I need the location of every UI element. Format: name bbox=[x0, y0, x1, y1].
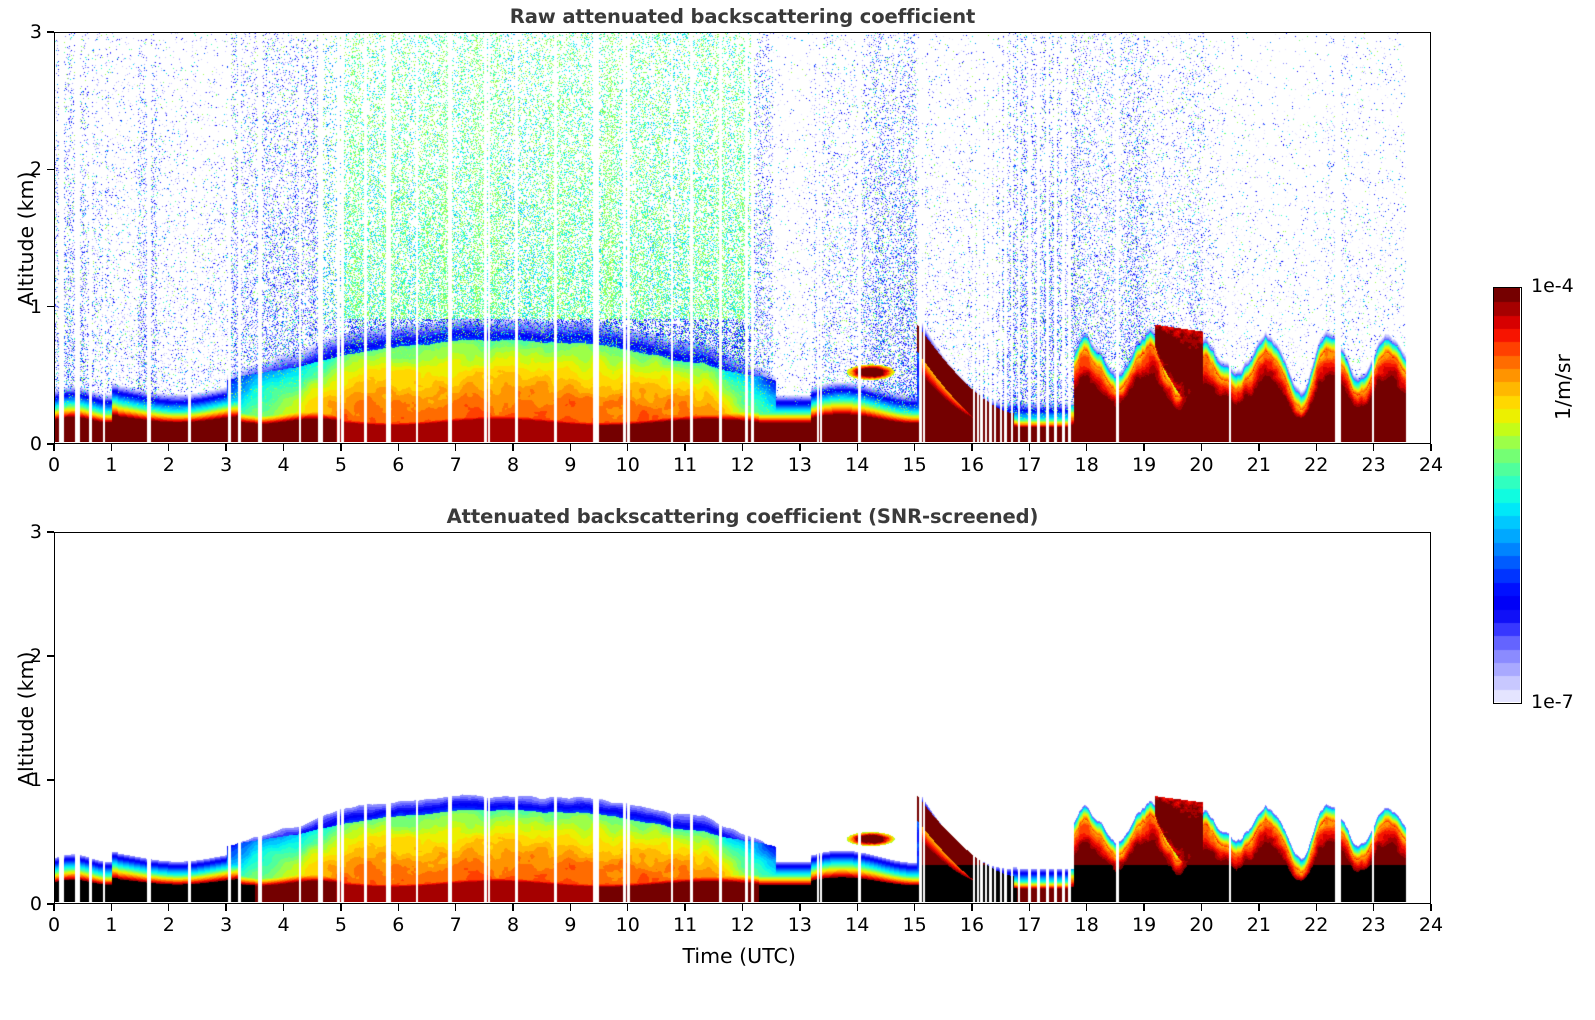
x-tick-mark bbox=[1430, 904, 1431, 911]
x-tick-mark bbox=[1086, 904, 1087, 911]
heatmap-snr bbox=[55, 533, 1429, 902]
x-tick-label: 5 bbox=[335, 454, 347, 476]
x-tick-label: 22 bbox=[1304, 454, 1328, 476]
x-tick-mark bbox=[1373, 904, 1374, 911]
x-tick-label: 7 bbox=[450, 454, 462, 476]
x-tick-mark bbox=[1373, 444, 1374, 451]
x-tick-mark bbox=[1029, 444, 1030, 451]
x-tick-label: 19 bbox=[1132, 914, 1156, 936]
x-tick-label: 23 bbox=[1362, 454, 1386, 476]
x-tick-label: 1 bbox=[105, 454, 117, 476]
x-tick-mark bbox=[398, 444, 399, 451]
x-tick-mark bbox=[225, 444, 226, 451]
x-tick-label: 13 bbox=[788, 454, 812, 476]
x-tick-mark bbox=[1143, 444, 1144, 451]
x-tick-mark bbox=[1316, 444, 1317, 451]
heatmap-raw bbox=[55, 33, 1429, 442]
x-tick-mark bbox=[398, 904, 399, 911]
colorbar-gradient bbox=[1493, 287, 1522, 704]
y-tick-mark bbox=[47, 306, 54, 307]
x-tick-label: 4 bbox=[277, 454, 289, 476]
x-tick-mark bbox=[914, 444, 915, 451]
x-tick-mark bbox=[1086, 444, 1087, 451]
y-tick-mark bbox=[47, 531, 54, 532]
x-tick-mark bbox=[1029, 904, 1030, 911]
x-tick-label: 3 bbox=[220, 454, 232, 476]
x-tick-label: 11 bbox=[673, 454, 697, 476]
x-tick-label: 16 bbox=[960, 914, 984, 936]
figure-root: Raw attenuated backscattering coefficien… bbox=[0, 0, 1595, 1020]
x-tick-label: 13 bbox=[788, 914, 812, 936]
x-tick-label: 9 bbox=[564, 914, 576, 936]
x-tick-label: 19 bbox=[1132, 454, 1156, 476]
x-tick-label: 5 bbox=[335, 914, 347, 936]
x-tick-mark bbox=[512, 444, 513, 451]
x-tick-label: 1 bbox=[105, 914, 117, 936]
x-tick-label: 2 bbox=[163, 454, 175, 476]
x-tick-label: 4 bbox=[277, 914, 289, 936]
x-tick-mark bbox=[1258, 444, 1259, 451]
y-tick-label: 0 bbox=[10, 433, 42, 455]
colorbar-canvas bbox=[1494, 288, 1520, 702]
x-tick-label: 10 bbox=[616, 914, 640, 936]
x-tick-mark bbox=[340, 904, 341, 911]
x-tick-mark bbox=[1258, 904, 1259, 911]
x-tick-label: 11 bbox=[673, 914, 697, 936]
x-tick-label: 21 bbox=[1247, 454, 1271, 476]
y-tick-mark bbox=[47, 31, 54, 32]
x-tick-mark bbox=[512, 904, 513, 911]
x-tick-mark bbox=[283, 444, 284, 451]
y-axis-label-snr: Altitude (km) bbox=[14, 652, 38, 786]
x-tick-mark bbox=[283, 904, 284, 911]
x-tick-label: 18 bbox=[1075, 914, 1099, 936]
x-tick-mark bbox=[570, 444, 571, 451]
x-tick-label: 12 bbox=[730, 914, 754, 936]
x-tick-label: 23 bbox=[1362, 914, 1386, 936]
x-tick-label: 16 bbox=[960, 454, 984, 476]
x-tick-label: 24 bbox=[1419, 914, 1443, 936]
x-tick-label: 8 bbox=[507, 914, 519, 936]
x-tick-mark bbox=[1201, 444, 1202, 451]
x-tick-label: 17 bbox=[1017, 914, 1041, 936]
x-tick-label: 22 bbox=[1304, 914, 1328, 936]
x-tick-mark bbox=[1201, 904, 1202, 911]
x-tick-mark bbox=[168, 444, 169, 451]
x-tick-label: 7 bbox=[450, 914, 462, 936]
x-tick-label: 20 bbox=[1189, 914, 1213, 936]
x-tick-mark bbox=[53, 444, 54, 451]
x-tick-label: 2 bbox=[163, 914, 175, 936]
x-tick-mark bbox=[914, 904, 915, 911]
x-tick-mark bbox=[857, 444, 858, 451]
y-tick-label: 3 bbox=[10, 521, 42, 543]
x-tick-mark bbox=[971, 904, 972, 911]
x-tick-mark bbox=[340, 444, 341, 451]
x-tick-label: 10 bbox=[616, 454, 640, 476]
x-tick-label: 12 bbox=[730, 454, 754, 476]
panel-title-raw: Raw attenuated backscattering coefficien… bbox=[54, 5, 1431, 28]
y-tick-label: 0 bbox=[10, 893, 42, 915]
y-tick-mark bbox=[47, 655, 54, 656]
x-tick-mark bbox=[225, 904, 226, 911]
colorbar-min-label: 1e-7 bbox=[1531, 691, 1574, 713]
x-tick-mark bbox=[971, 444, 972, 451]
y-tick-mark bbox=[47, 169, 54, 170]
x-tick-mark bbox=[455, 444, 456, 451]
colorbar-max-label: 1e-4 bbox=[1531, 275, 1574, 297]
x-tick-label: 24 bbox=[1419, 454, 1443, 476]
x-tick-mark bbox=[684, 444, 685, 451]
x-tick-mark bbox=[627, 904, 628, 911]
x-tick-label: 14 bbox=[845, 454, 869, 476]
colorbar: 1e-4 1e-7 bbox=[1493, 287, 1522, 704]
x-tick-label: 18 bbox=[1075, 454, 1099, 476]
panel-title-snr: Attenuated backscattering coefficient (S… bbox=[54, 505, 1431, 528]
plot-area-raw bbox=[54, 32, 1431, 444]
plot-area-snr bbox=[54, 532, 1431, 904]
x-tick-mark bbox=[742, 444, 743, 451]
x-tick-label: 9 bbox=[564, 454, 576, 476]
x-tick-label: 0 bbox=[48, 914, 60, 936]
colorbar-unit-label: 1/m/sr bbox=[1551, 354, 1575, 420]
x-tick-mark bbox=[570, 904, 571, 911]
x-tick-mark bbox=[799, 904, 800, 911]
x-tick-label: 14 bbox=[845, 914, 869, 936]
y-tick-mark bbox=[47, 779, 54, 780]
x-tick-label: 6 bbox=[392, 914, 404, 936]
x-tick-mark bbox=[168, 904, 169, 911]
x-tick-mark bbox=[111, 904, 112, 911]
x-tick-mark bbox=[684, 904, 685, 911]
x-tick-mark bbox=[1430, 444, 1431, 451]
x-tick-mark bbox=[1316, 904, 1317, 911]
y-tick-mark bbox=[47, 443, 54, 444]
x-tick-mark bbox=[857, 904, 858, 911]
x-tick-label: 15 bbox=[903, 454, 927, 476]
y-axis-label-raw: Altitude (km) bbox=[14, 172, 38, 306]
x-tick-mark bbox=[1143, 904, 1144, 911]
x-tick-label: 8 bbox=[507, 454, 519, 476]
x-tick-label: 17 bbox=[1017, 454, 1041, 476]
x-tick-mark bbox=[455, 904, 456, 911]
x-tick-mark bbox=[742, 904, 743, 911]
y-tick-label: 3 bbox=[10, 21, 42, 43]
y-tick-mark bbox=[47, 903, 54, 904]
x-tick-label: 21 bbox=[1247, 914, 1271, 936]
x-tick-label: 20 bbox=[1189, 454, 1213, 476]
x-axis-label: Time (UTC) bbox=[683, 944, 796, 968]
x-tick-label: 6 bbox=[392, 454, 404, 476]
x-tick-mark bbox=[111, 444, 112, 451]
x-tick-label: 0 bbox=[48, 454, 60, 476]
x-tick-mark bbox=[627, 444, 628, 451]
x-tick-mark bbox=[53, 904, 54, 911]
x-tick-mark bbox=[799, 444, 800, 451]
x-tick-label: 3 bbox=[220, 914, 232, 936]
x-tick-label: 15 bbox=[903, 914, 927, 936]
